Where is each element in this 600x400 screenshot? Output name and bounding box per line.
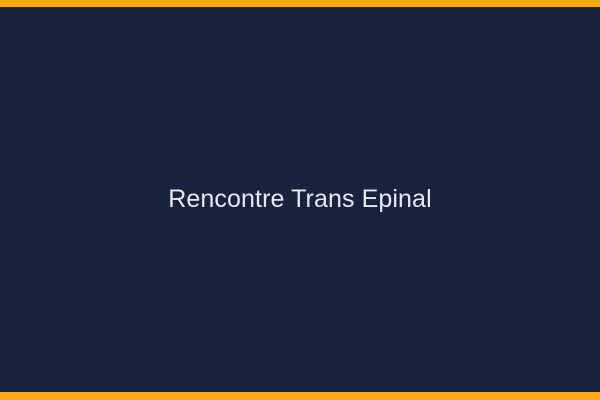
placeholder-body: Rencontre Trans Epinal <box>0 7 600 392</box>
accent-bar-bottom <box>0 392 600 400</box>
placeholder-image-card: Rencontre Trans Epinal <box>0 0 600 400</box>
accent-bar-top <box>0 0 600 7</box>
placeholder-title: Rencontre Trans Epinal <box>168 184 431 214</box>
